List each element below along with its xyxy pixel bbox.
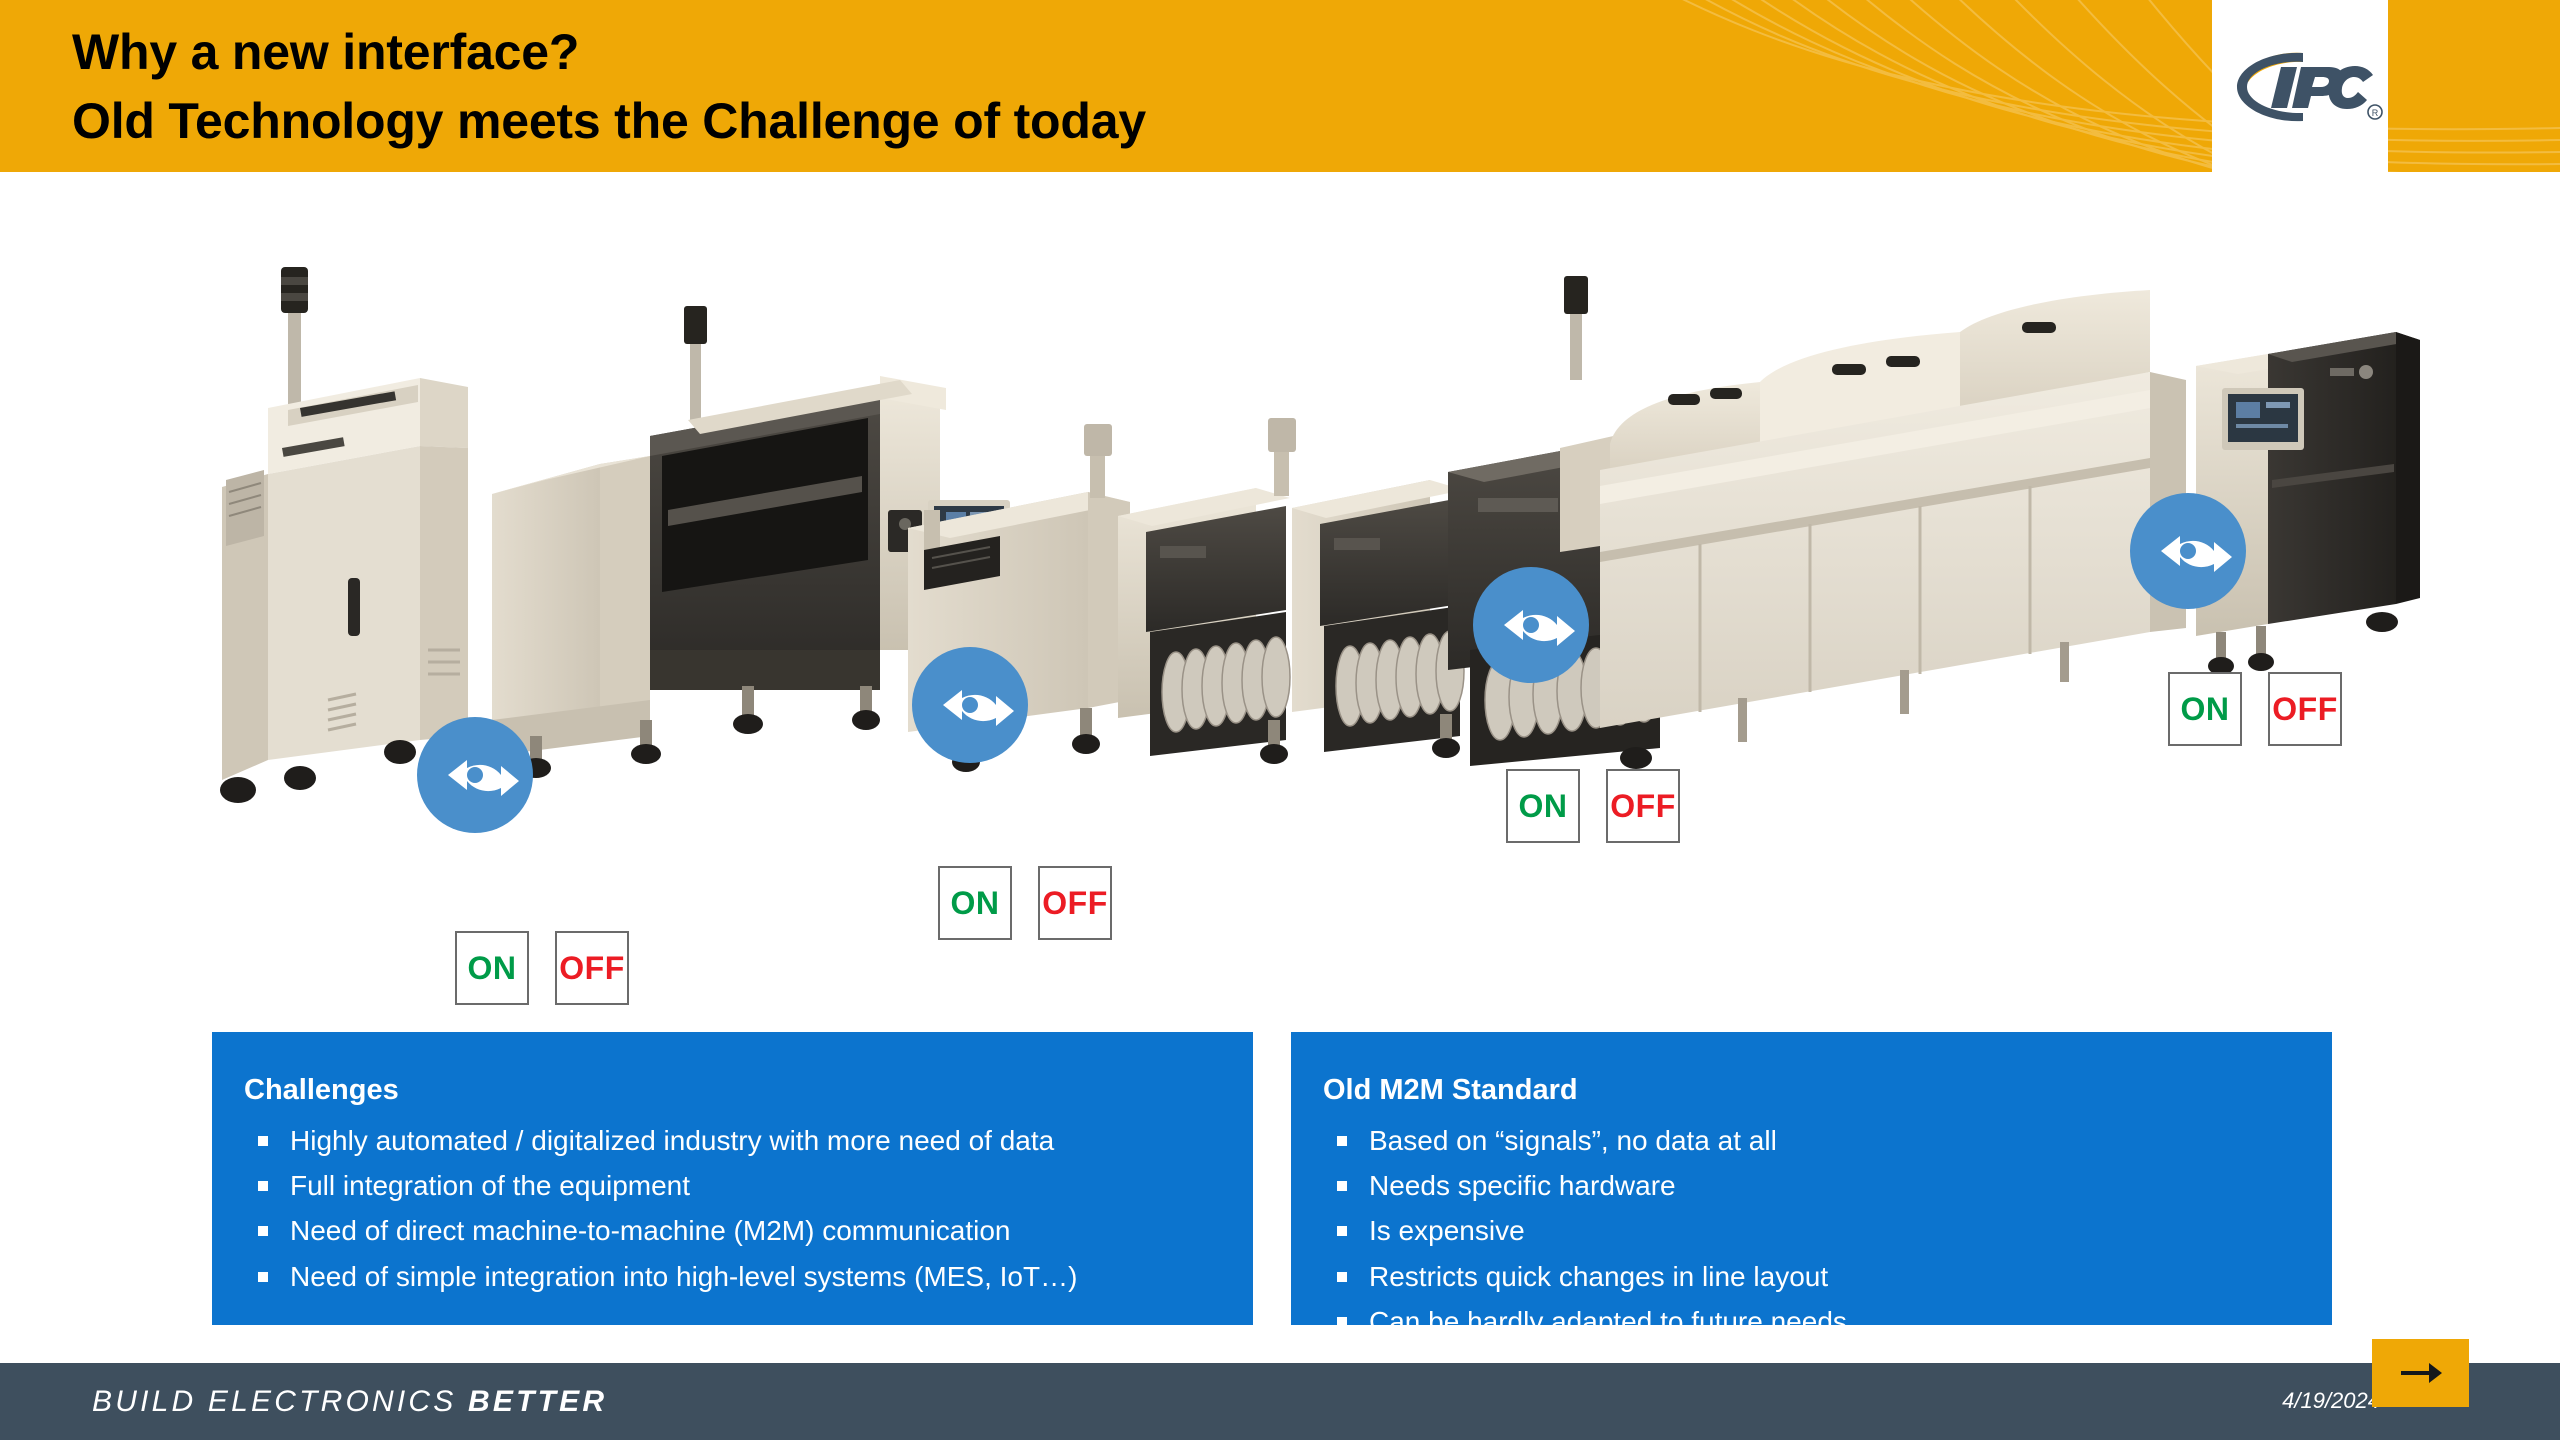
old-m2m-heading: Old M2M Standard [1323,1072,2298,1110]
status-badge-pair: ON OFF [1506,769,1680,843]
data-exchange-icon[interactable] [417,717,533,833]
status-badge-off[interactable]: OFF [2268,672,2342,746]
data-exchange-icon[interactable] [2130,493,2246,609]
list-item: Highly automated / digitalized industry … [244,1118,1219,1163]
old-m2m-bullet-list: Based on “signals”, no data at all Needs… [1323,1118,2298,1345]
list-item: Need of direct machine-to-machine (M2M) … [244,1208,1219,1253]
list-item: Need of simple integration into high-lev… [244,1254,1219,1299]
status-badge-pair: ON OFF [455,931,629,1005]
status-badge-off[interactable]: OFF [1038,866,1112,940]
status-badge-on[interactable]: ON [2168,672,2242,746]
challenges-bullet-list: Highly automated / digitalized industry … [244,1118,1219,1299]
status-badge-pair: ON OFF [938,866,1112,940]
page-title: Why a new interface? Old Technology meet… [72,18,1972,156]
footer-date: 4/19/2024 [2282,1388,2380,1414]
arrow-right-icon [2397,1360,2445,1386]
data-exchange-icon[interactable] [912,647,1028,763]
status-badge-pair: ON OFF [2168,672,2342,746]
list-item: Can be hardly adapted to future needs [1323,1299,2298,1344]
data-exchange-icon[interactable] [1473,567,1589,683]
old-m2m-standard-panel: Old M2M Standard Based on “signals”, no … [1291,1032,2332,1325]
list-item: Restricts quick changes in line layout [1323,1254,2298,1299]
status-badge-off[interactable]: OFF [555,931,629,1005]
status-badge-on[interactable]: ON [938,866,1012,940]
status-badge-on[interactable]: ON [1506,769,1580,843]
list-item: Based on “signals”, no data at all [1323,1118,2298,1163]
next-slide-button[interactable] [2372,1339,2469,1407]
status-badge-on[interactable]: ON [455,931,529,1005]
list-item: Full integration of the equipment [244,1163,1219,1208]
challenges-panel: Challenges Highly automated / digitalize… [212,1032,1253,1325]
machine-reflow-oven [1560,276,2186,742]
list-item: Needs specific hardware [1323,1163,2298,1208]
footer-tagline-regular: BUILD ELECTRONICS [92,1385,468,1418]
footer-tagline: BUILD ELECTRONICS BETTER [92,1385,607,1419]
footer-tagline-bold: BETTER [468,1385,607,1418]
svg-text:R: R [2372,108,2379,118]
ipc-logo: R [2225,42,2385,128]
challenges-heading: Challenges [244,1072,1219,1110]
status-badge-off[interactable]: OFF [1606,769,1680,843]
list-item: Is expensive [1323,1208,2298,1253]
